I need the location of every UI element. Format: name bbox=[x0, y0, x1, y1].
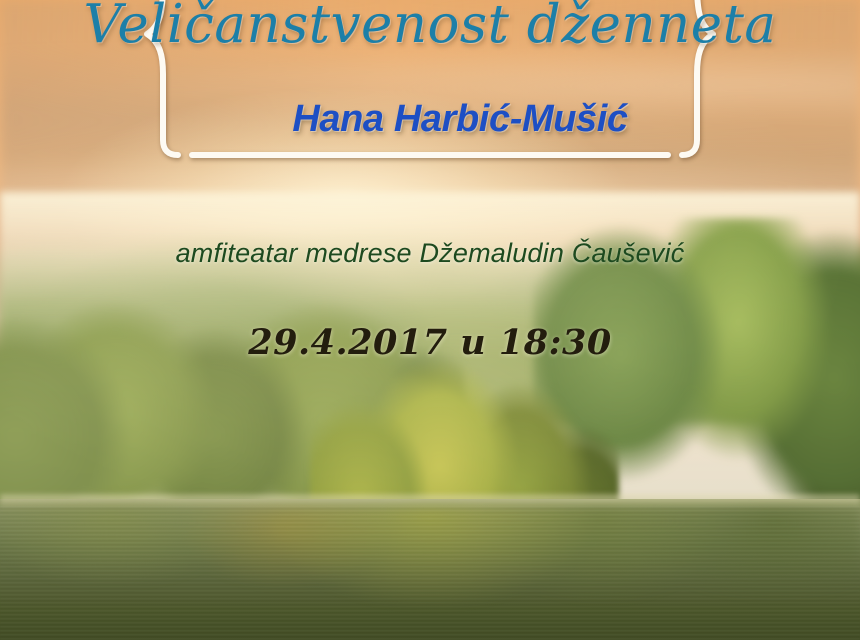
event-poster: Veličanstvenost dženneta Hana Harbić-Muš… bbox=[0, 0, 860, 640]
poster-title: Veličanstvenost dženneta bbox=[0, 0, 860, 55]
date-time-label: 29.4.2017 u 18:30 bbox=[0, 322, 860, 363]
venue-label: amfiteatar medrese Džemaludin Čaušević bbox=[0, 238, 860, 269]
speaker-name: Hana Harbić-Mušić bbox=[0, 98, 860, 141]
warm-color-grade bbox=[0, 0, 860, 640]
